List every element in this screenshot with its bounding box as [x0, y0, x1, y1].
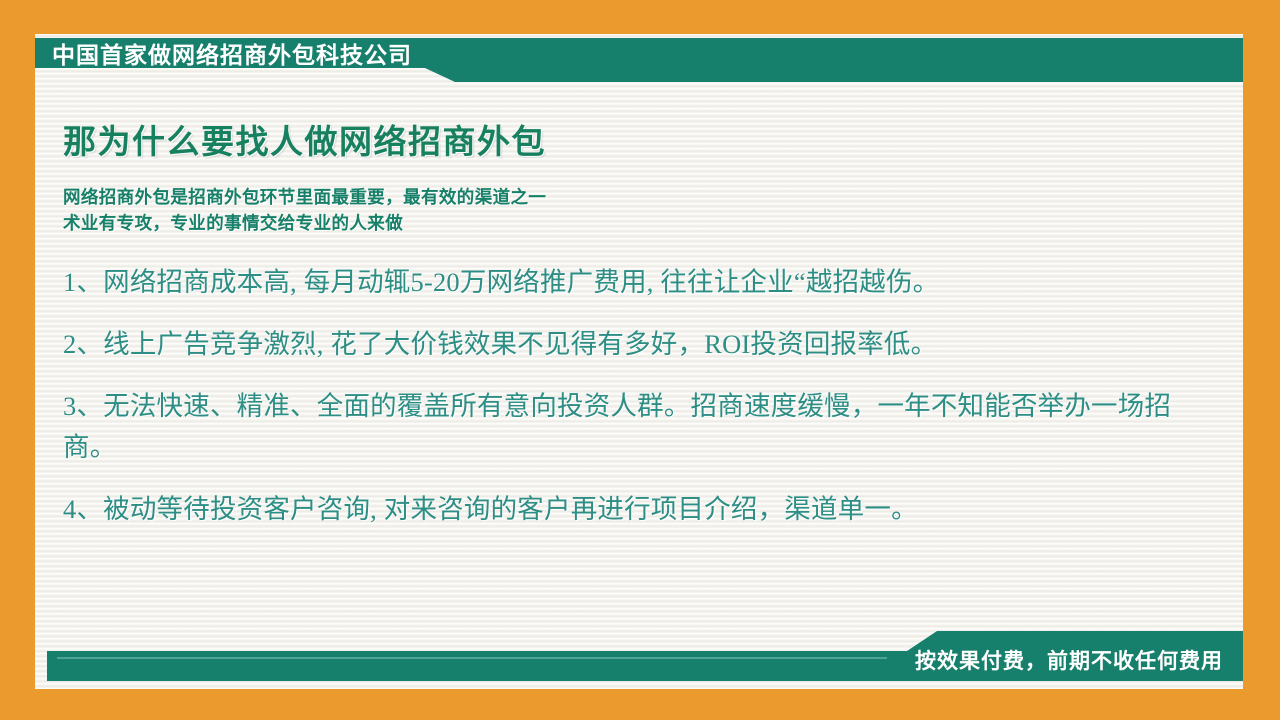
- list-item: 2、线上广告竞争激烈, 花了大价钱效果不见得有多好，ROI投资回报率低。: [63, 324, 1218, 365]
- subtitle-block: 网络招商外包是招商外包环节里面最重要，最有效的渠道之一 术业有专攻，专业的事情交…: [63, 184, 1223, 236]
- subtitle-line-1: 网络招商外包是招商外包环节里面最重要，最有效的渠道之一: [63, 184, 1223, 210]
- slide-content: 那为什么要找人做网络招商外包 网络招商外包是招商外包环节里面最重要，最有效的渠道…: [63, 120, 1223, 530]
- list-item: 1、网络招商成本高, 每月动辄5-20万网络推广费用, 往往让企业“越招越伤。: [63, 262, 1218, 303]
- list-item: 3、无法快速、精准、全面的覆盖所有意向投资人群。招商速度缓慢，一年不知能否举办一…: [63, 386, 1218, 468]
- slide-paper-panel: 中国首家做网络招商外包科技公司 那为什么要找人做网络招商外包 网络招商外包是招商…: [35, 34, 1243, 689]
- footer-hairline-divider: [57, 657, 887, 659]
- subtitle-line-2: 术业有专攻，专业的事情交给专业的人来做: [63, 210, 1223, 236]
- header-hairline-divider: [435, 52, 1243, 54]
- header-title: 中国首家做网络招商外包科技公司: [52, 42, 412, 68]
- slide-root: 中国首家做网络招商外包科技公司 那为什么要找人做网络招商外包 网络招商外包是招商…: [0, 0, 1280, 720]
- list-item: 4、被动等待投资客户咨询, 对来咨询的客户再进行项目介绍，渠道单一。: [63, 489, 1218, 530]
- page-title: 那为什么要找人做网络招商外包: [63, 120, 1223, 164]
- footer-tagline: 按效果付费，前期不收任何费用: [915, 649, 1223, 675]
- bullet-list: 1、网络招商成本高, 每月动辄5-20万网络推广费用, 往往让企业“越招越伤。 …: [63, 262, 1223, 530]
